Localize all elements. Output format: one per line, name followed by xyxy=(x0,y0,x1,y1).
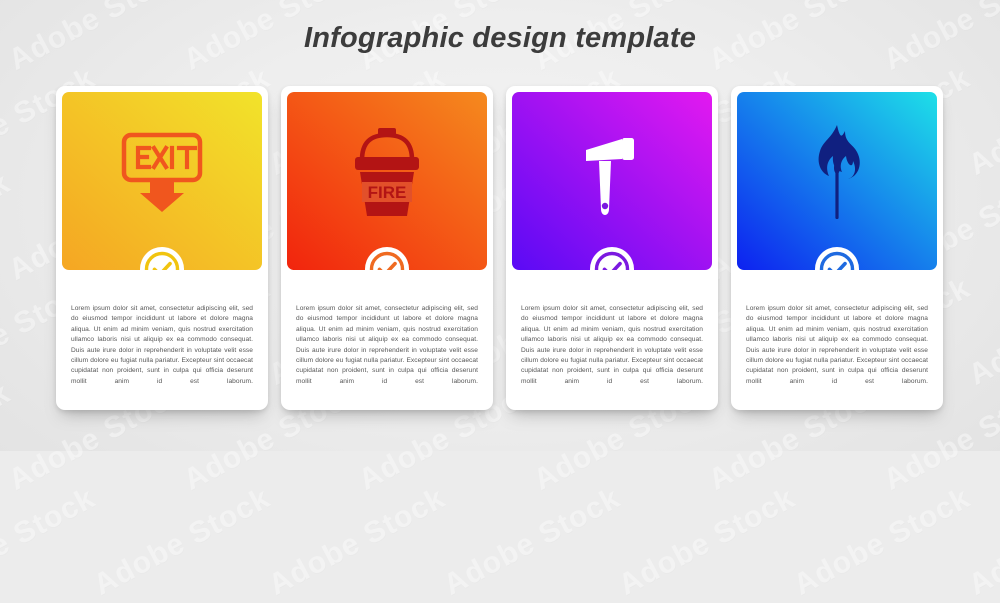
fire-bucket-label: FIRE xyxy=(368,183,407,202)
card-body-text: Lorem ipsum dolor sit amet, consectetur … xyxy=(512,270,712,410)
fire-bucket-icon: FIRE xyxy=(287,92,487,270)
status-check-badge-2 xyxy=(365,247,409,270)
status-check-badge-3 xyxy=(590,247,634,270)
card-body-text: Lorem ipsum dolor sit amet, consectetur … xyxy=(62,270,262,410)
burning-match-icon xyxy=(737,92,937,270)
icon-panel-4 xyxy=(737,92,937,270)
exit-sign-with-down-arrow-icon xyxy=(62,92,262,270)
info-card-4[interactable]: Lorem ipsum dolor sit amet, consectetur … xyxy=(731,86,943,410)
icon-panel-2: FIRE xyxy=(287,92,487,270)
info-card-3[interactable]: Lorem ipsum dolor sit amet, consectetur … xyxy=(506,86,718,410)
infographic-canvas: Adobe StockAdobe StockAdobe StockAdobe S… xyxy=(0,0,1000,451)
info-card-1[interactable]: Lorem ipsum dolor sit amet, consectetur … xyxy=(56,86,268,410)
page-title: Infographic design template xyxy=(0,22,1000,55)
hammer-icon xyxy=(512,92,712,270)
status-check-badge-1 xyxy=(140,247,184,270)
icon-panel-1 xyxy=(62,92,262,270)
icon-panel-3 xyxy=(512,92,712,270)
info-card-2[interactable]: FIRE Lorem ipsum dolor sit amet, consect… xyxy=(281,86,493,410)
card-body-text: Lorem ipsum dolor sit amet, consectetur … xyxy=(737,270,937,410)
card-body-text: Lorem ipsum dolor sit amet, consectetur … xyxy=(287,270,487,410)
card-row: Lorem ipsum dolor sit amet, consectetur … xyxy=(56,86,952,410)
status-check-badge-4 xyxy=(815,247,859,270)
